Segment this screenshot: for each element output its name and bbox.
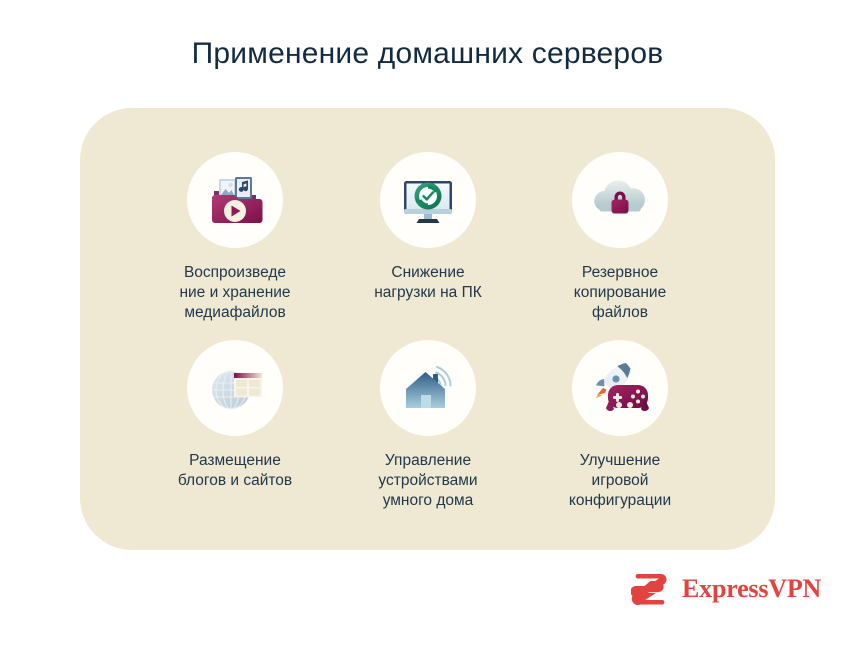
benefits-grid: Воспроизведе ние и хранение медиафайлов [80,108,775,550]
media-folder-icon [204,169,266,231]
icon-circle [380,152,476,248]
benefit-label: Управление устройствами умного дома [332,451,524,511]
monitor-sync-icon [397,169,459,231]
icon-circle [572,340,668,436]
content-panel: Воспроизведе ние и хранение медиафайлов [80,108,775,550]
globe-webpage-icon [204,357,266,419]
cloud-lock-icon [588,169,652,231]
benefit-label: Снижение нагрузки на ПК [332,263,524,303]
icon-circle [187,340,283,436]
benefit-label: Резервное копирование файлов [524,263,716,323]
benefit-label: Размещение блогов и сайтов [139,451,331,491]
icon-circle [187,152,283,248]
benefit-item-gaming-setup: Улучшение игровой конфигурации [524,340,716,511]
benefit-item-host-blogs-sites: Размещение блогов и сайтов [139,340,331,491]
smart-home-wifi-icon [397,357,459,419]
icon-circle [572,152,668,248]
icon-circle [380,340,476,436]
benefit-label: Улучшение игровой конфигурации [524,451,716,511]
expressvpn-logo-text: ExpressVPN [682,574,821,604]
benefit-item-media-storage: Воспроизведе ние и хранение медиафайлов [139,152,331,323]
benefit-item-reduce-pc-load: Снижение нагрузки на ПК [332,152,524,303]
expressvpn-logo: ExpressVPN [631,569,821,609]
infographic-canvas: Применение домашних серверов [0,0,855,645]
rocket-gamepad-icon [588,357,652,419]
expressvpn-logo-mark [631,572,671,606]
page-title: Применение домашних серверов [0,34,855,74]
benefit-item-backup-files: Резервное копирование файлов [524,152,716,323]
benefit-item-smart-home-control: Управление устройствами умного дома [332,340,524,511]
benefit-label: Воспроизведе ние и хранение медиафайлов [139,263,331,323]
